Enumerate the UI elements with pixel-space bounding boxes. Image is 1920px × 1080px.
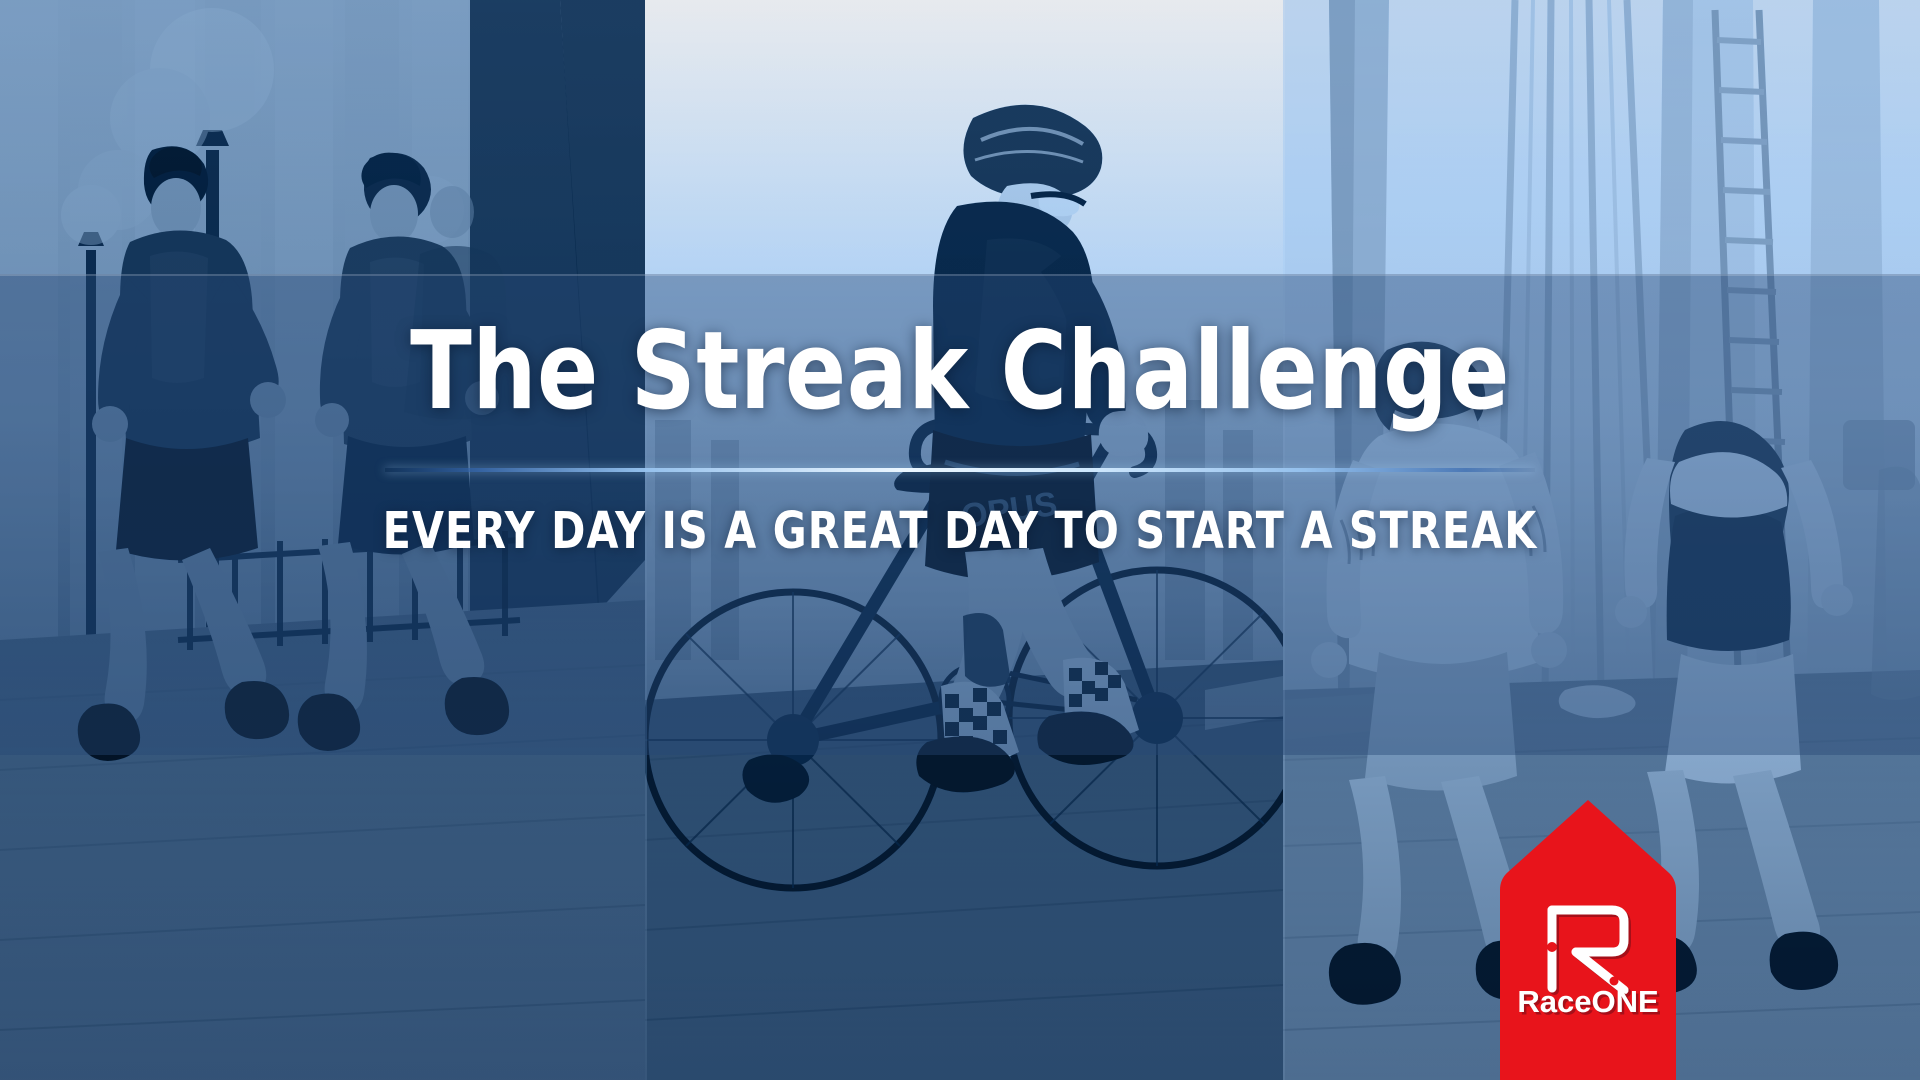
hero-copy: The Streak Challenge EVERY DAY IS A GREA…	[0, 318, 1920, 561]
hero-subtitle: EVERY DAY IS A GREAT DAY TO START A STRE…	[96, 502, 1824, 561]
page-title: The Streak Challenge	[67, 318, 1853, 426]
title-divider	[385, 468, 1535, 472]
logo-wordmark: RaceONE	[1517, 984, 1658, 1019]
hero-banner: OPUS	[0, 0, 1920, 1080]
raceone-logo[interactable]: RaceONE	[1500, 800, 1676, 1080]
pentagon-shape	[1500, 800, 1676, 1080]
route-start-dot	[1547, 942, 1557, 952]
